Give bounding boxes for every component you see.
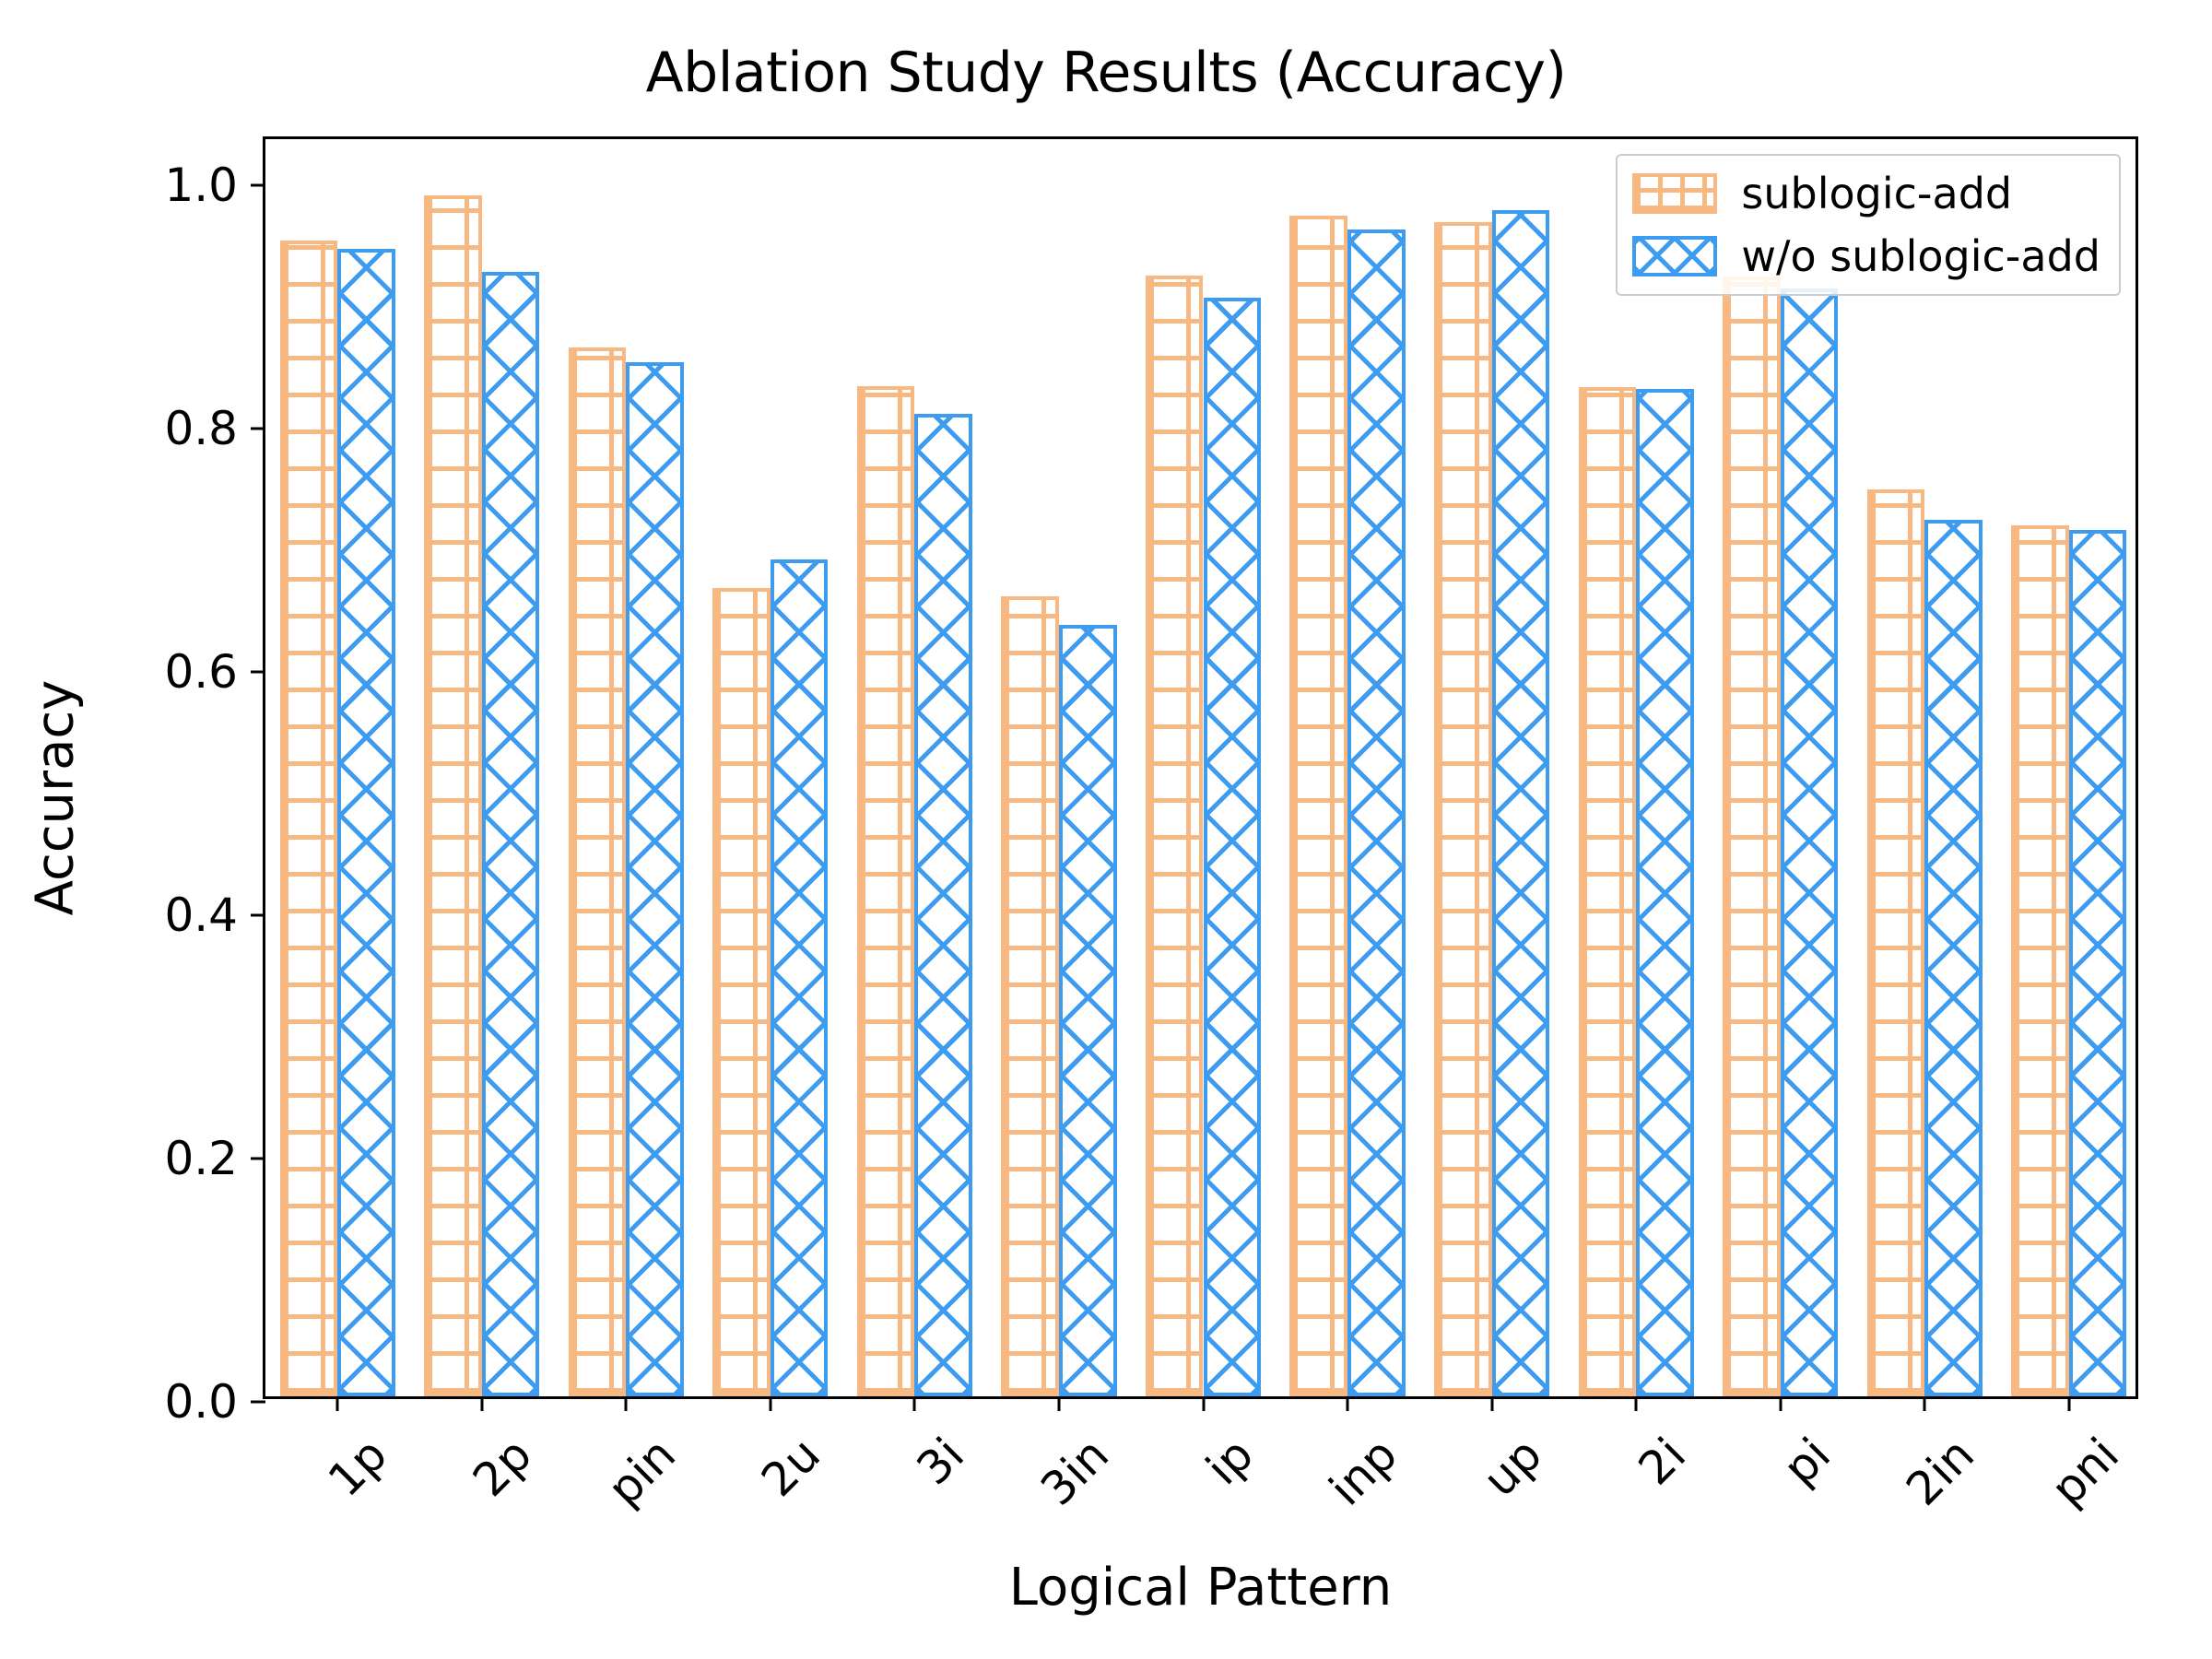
bar-inp-series-b — [1347, 229, 1406, 1396]
bar-2u-series-b — [771, 559, 829, 1396]
y-tick-0.6 — [251, 670, 265, 673]
legend-item-series-a[interactable]: sublogic-add — [1632, 169, 2100, 218]
bar-2i-series-b — [1636, 389, 1694, 1396]
y-tick-label-0.6: 0.6 — [164, 645, 238, 699]
x-tick-label-inp: inp — [1319, 1428, 1407, 1516]
bar-2in-series-b — [1924, 520, 1983, 1396]
x-tick-pin — [625, 1396, 628, 1411]
x-tick-1p — [336, 1396, 339, 1411]
bar-3in-series-b — [1059, 625, 1117, 1396]
bar-pin-series-a — [569, 347, 627, 1396]
legend-label: sublogic-add — [1741, 169, 2012, 218]
x-tick-label-2u: 2u — [751, 1428, 830, 1507]
x-tick-ip — [1202, 1396, 1205, 1411]
bar-2in-series-a — [1867, 489, 1925, 1396]
bar-pi-series-b — [1781, 288, 1839, 1396]
legend-label: w/o sublogic-add — [1741, 231, 2100, 281]
bar-pni-series-a — [2011, 525, 2069, 1396]
x-tick-label-3i: 3i — [907, 1428, 974, 1495]
y-tick-label-1.0: 1.0 — [164, 159, 238, 212]
y-axis-label: Accuracy — [26, 429, 86, 1167]
y-tick-0.4 — [251, 913, 265, 916]
bar-1p-series-a — [280, 241, 338, 1396]
bar-1p-series-b — [337, 249, 395, 1396]
bar-inp-series-a — [1289, 216, 1347, 1396]
chart-legend: sublogic-addw/o sublogic-add — [1616, 154, 2121, 296]
y-tick-label-0.2: 0.2 — [164, 1132, 238, 1185]
bar-up-series-b — [1492, 210, 1550, 1396]
chart-title: Ablation Study Results (Accuracy) — [0, 41, 2212, 105]
y-tick-label-0.4: 0.4 — [164, 888, 238, 942]
x-tick-label-pni: pni — [2041, 1428, 2129, 1516]
y-tick-label-0.8: 0.8 — [164, 402, 238, 455]
x-tick-label-2i: 2i — [1629, 1428, 1696, 1495]
bar-up-series-a — [1434, 222, 1492, 1396]
x-tick-inp — [1347, 1396, 1349, 1411]
chart-figure: Ablation Study Results (Accuracy) Accura… — [0, 0, 2212, 1659]
x-tick-label-pin: pin — [598, 1428, 687, 1516]
x-axis-label: Logical Pattern — [263, 1558, 2138, 1618]
x-tick-label-ip: ip — [1195, 1428, 1263, 1495]
x-tick-label-2p: 2p — [463, 1428, 542, 1507]
bar-3in-series-a — [1001, 596, 1059, 1396]
legend-item-series-b[interactable]: w/o sublogic-add — [1632, 231, 2100, 281]
bar-3i-series-a — [857, 386, 915, 1396]
bar-pi-series-a — [1723, 276, 1781, 1396]
y-tick-0.2 — [251, 1157, 265, 1159]
x-tick-label-3in: 3in — [1030, 1428, 1119, 1516]
x-tick-2u — [769, 1396, 771, 1411]
y-tick-0.8 — [251, 427, 265, 429]
y-tick-label-0.0: 0.0 — [164, 1375, 238, 1429]
x-tick-3i — [913, 1396, 916, 1411]
bars-layer — [265, 139, 2136, 1396]
x-tick-2i — [1635, 1396, 1638, 1411]
bar-3i-series-b — [914, 414, 972, 1396]
x-tick-2in — [1924, 1396, 1926, 1411]
bar-pin-series-b — [626, 362, 684, 1396]
bar-2i-series-a — [1579, 387, 1637, 1396]
x-tick-pni — [2067, 1396, 2070, 1411]
x-tick-label-2in: 2in — [1896, 1428, 1984, 1516]
bar-ip-series-b — [1204, 298, 1262, 1396]
bar-2u-series-a — [712, 588, 771, 1396]
bar-2p-series-a — [424, 195, 482, 1396]
legend-swatch-icon-series-a — [1632, 173, 1717, 214]
bar-pni-series-b — [2069, 530, 2127, 1396]
bar-ip-series-a — [1146, 276, 1204, 1396]
x-tick-label-pi: pi — [1772, 1428, 1840, 1495]
x-tick-pi — [1779, 1396, 1782, 1411]
y-tick-0.0 — [251, 1401, 265, 1404]
plot-area: 0.00.20.40.60.81.0 1p2ppin2u3i3inipinpup… — [263, 136, 2138, 1399]
bar-2p-series-b — [482, 272, 540, 1396]
x-tick-label-up: up — [1473, 1428, 1552, 1507]
x-tick-2p — [480, 1396, 483, 1411]
y-tick-1.0 — [251, 183, 265, 186]
x-tick-label-1p: 1p — [318, 1428, 397, 1507]
x-tick-3in — [1057, 1396, 1060, 1411]
x-tick-up — [1490, 1396, 1493, 1411]
legend-swatch-icon-series-b — [1632, 236, 1717, 276]
